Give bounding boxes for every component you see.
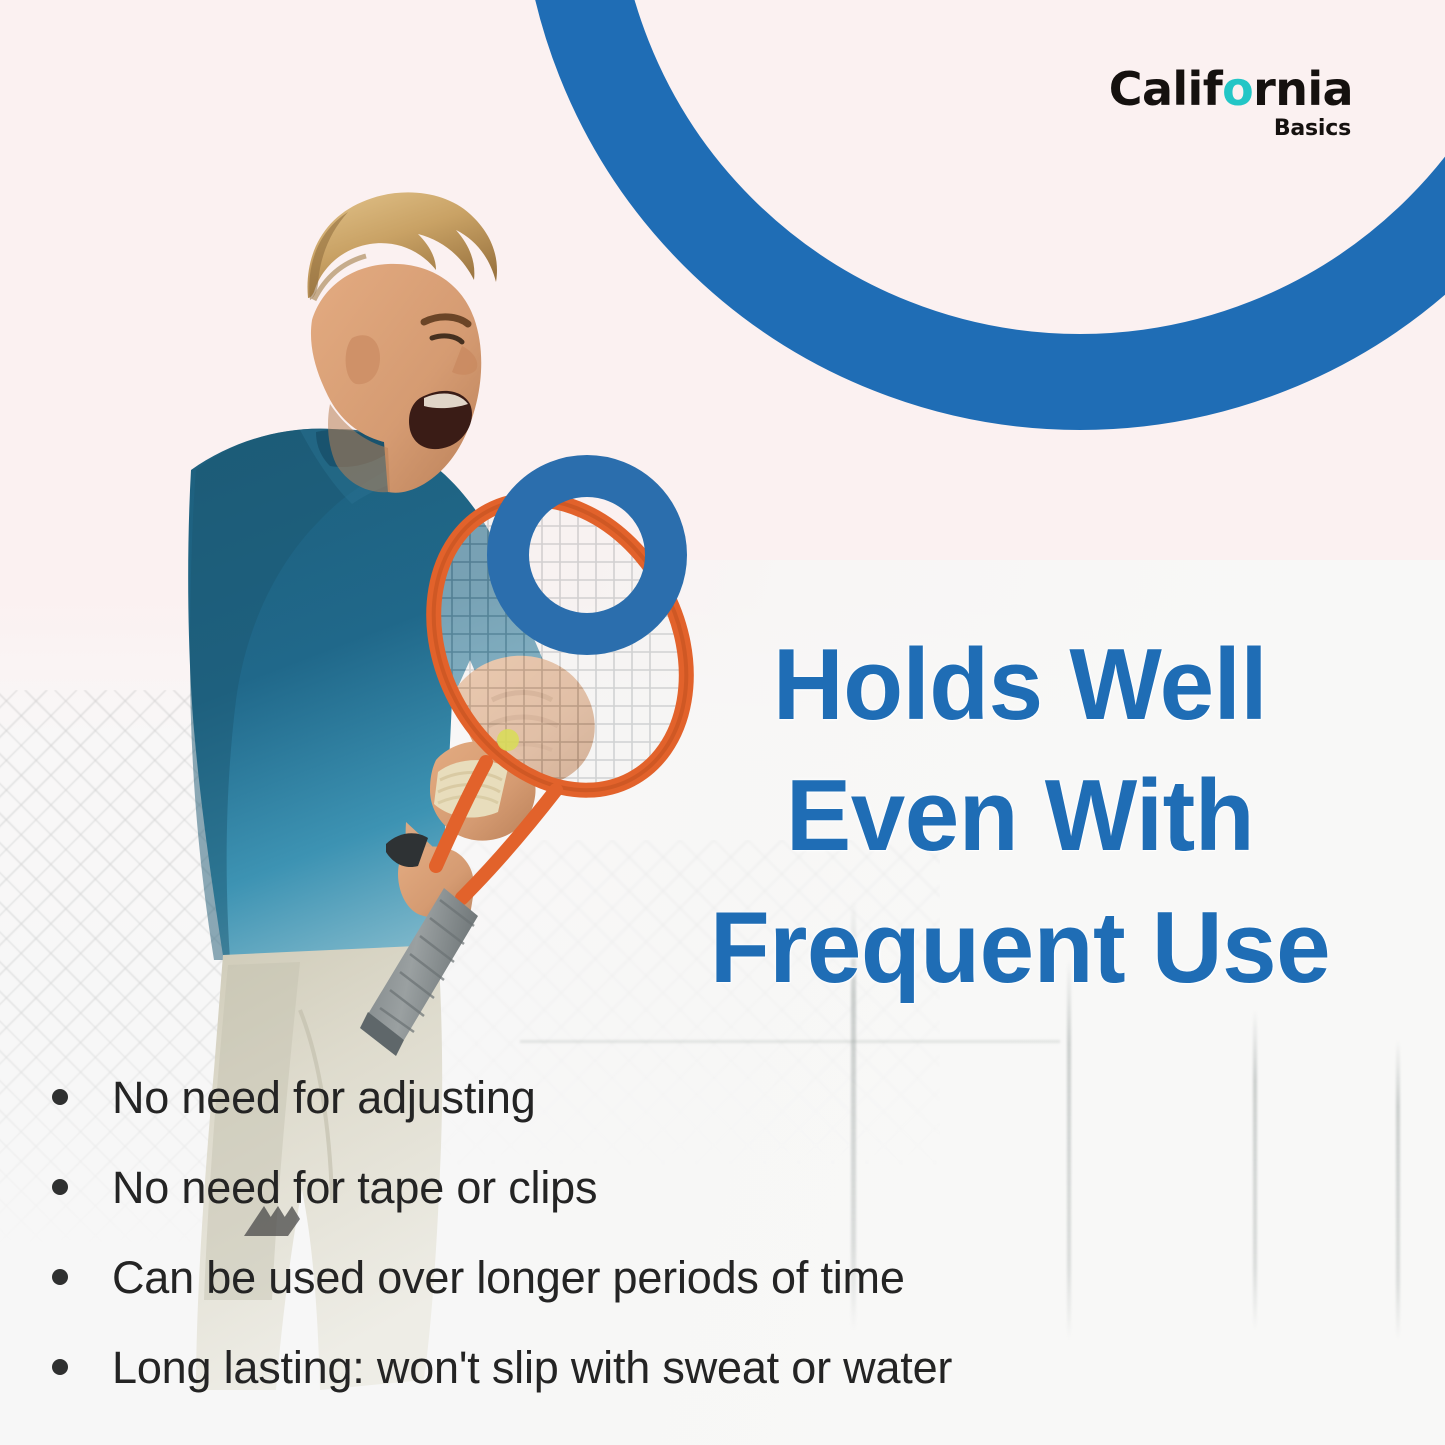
headline-line-3: Frequent Use bbox=[632, 883, 1408, 1014]
bullet-dot-icon bbox=[52, 1089, 68, 1105]
headline-line-1: Holds Well bbox=[632, 620, 1408, 751]
fence-post bbox=[1253, 1010, 1257, 1330]
fence-post bbox=[1396, 1040, 1400, 1340]
bullet-dot-icon bbox=[52, 1359, 68, 1375]
headline-line-2: Even With bbox=[632, 751, 1408, 882]
list-item: No need for adjusting bbox=[52, 1075, 1232, 1165]
brand-logo: California Basics bbox=[1109, 66, 1353, 140]
bullet-dot-icon bbox=[52, 1269, 68, 1285]
brand-logo-part-2: rnia bbox=[1253, 62, 1353, 116]
list-item: Can be used over longer periods of time bbox=[52, 1255, 1232, 1345]
brand-logo-subtitle: Basics bbox=[1109, 118, 1351, 140]
brand-logo-accent-letter: o bbox=[1222, 62, 1253, 116]
list-item: Long lasting: won't slip with sweat or w… bbox=[52, 1345, 1232, 1435]
list-item-label: No need for tape or clips bbox=[112, 1165, 597, 1210]
brand-logo-wordmark: California bbox=[1109, 66, 1353, 112]
list-item-label: Can be used over longer periods of time bbox=[112, 1255, 905, 1300]
bullet-dot-icon bbox=[52, 1179, 68, 1195]
benefits-list: No need for adjusting No need for tape o… bbox=[52, 1075, 1232, 1435]
headline: Holds Well Even With Frequent Use bbox=[632, 620, 1408, 1014]
brand-logo-part-1: Calif bbox=[1109, 62, 1222, 116]
list-item-label: No need for adjusting bbox=[112, 1075, 536, 1120]
tennis-ball bbox=[497, 729, 519, 751]
product-infographic-canvas: California Basics Holds Well Even With F… bbox=[0, 0, 1445, 1445]
list-item-label: Long lasting: won't slip with sweat or w… bbox=[112, 1345, 952, 1390]
list-item: No need for tape or clips bbox=[52, 1165, 1232, 1255]
